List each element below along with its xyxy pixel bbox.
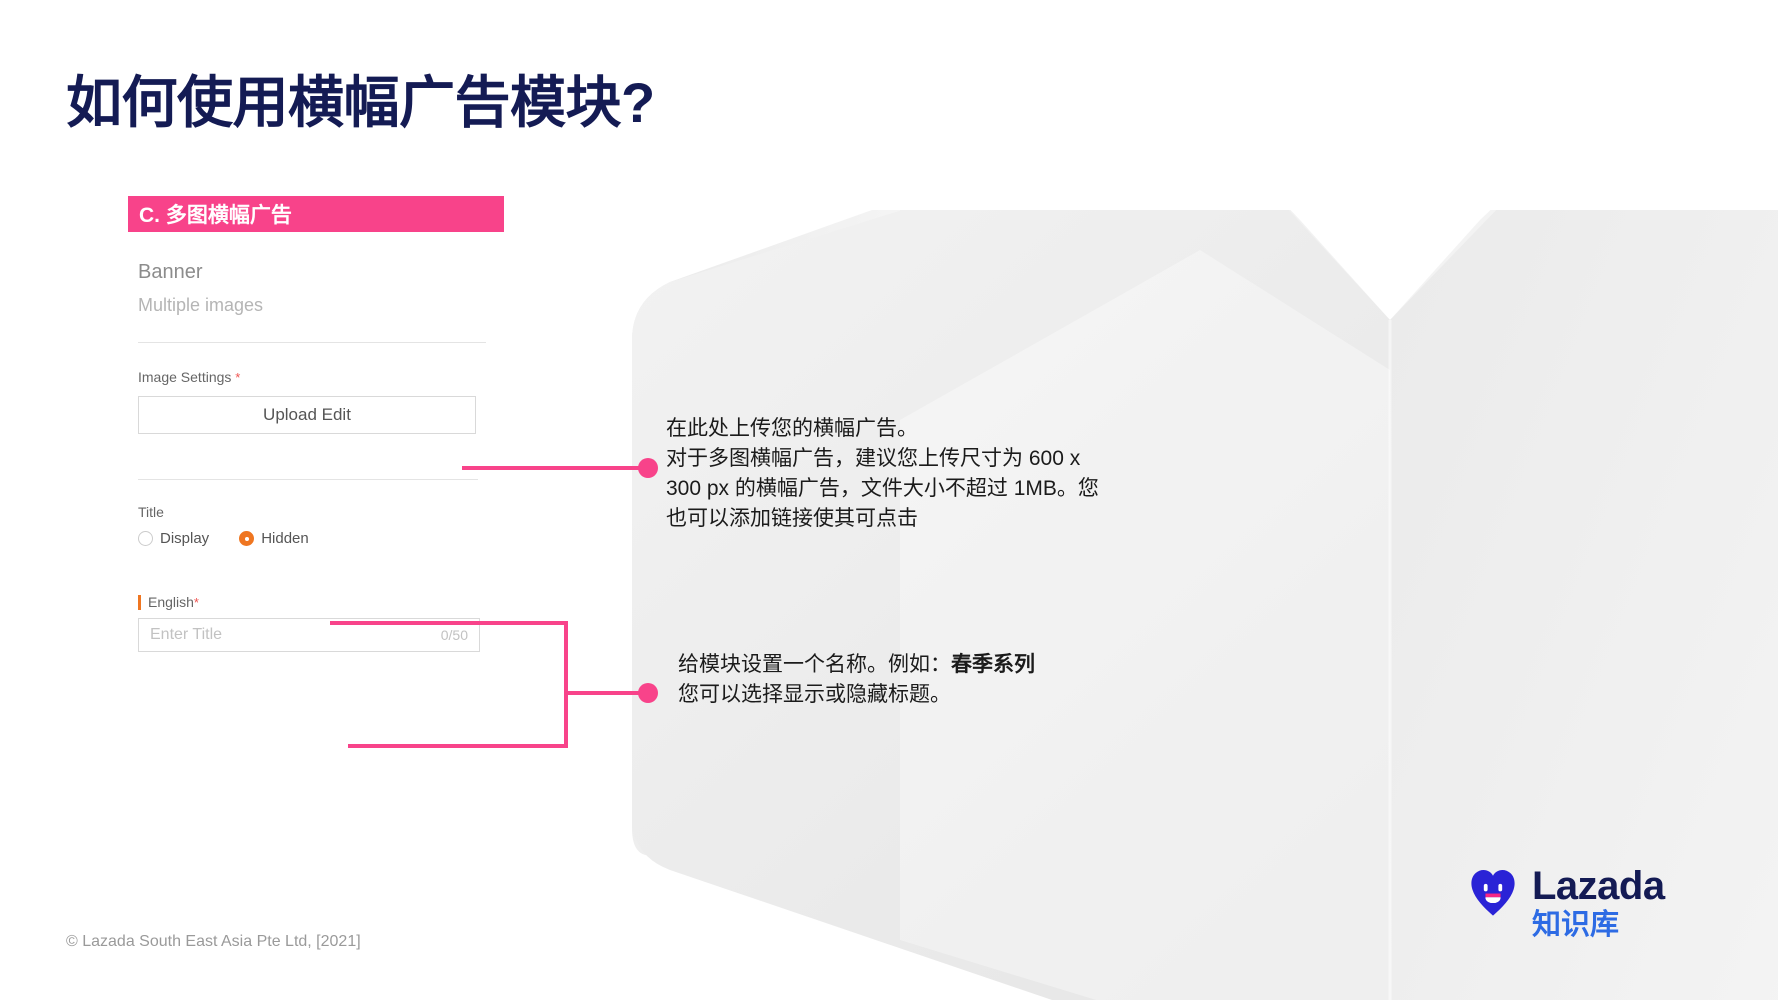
callout-title-instructions: 给模块设置一个名称。例如：春季系列 您可以选择显示或隐藏标题。 xyxy=(678,650,1148,710)
upload-edit-button[interactable]: Upload Edit xyxy=(138,396,476,434)
callout-2-bold-example: 春季系列 xyxy=(951,653,1035,676)
page-title: 如何使用横幅广告模块? xyxy=(66,58,655,139)
radio-option-display[interactable]: Display xyxy=(138,530,209,547)
radio-option-hidden[interactable]: Hidden xyxy=(239,530,309,547)
english-label-text: English xyxy=(148,594,194,610)
english-required-asterisk: * xyxy=(194,595,199,610)
title-visibility-radio-group: Display Hidden xyxy=(138,530,490,547)
title-group-label: Title xyxy=(138,504,490,520)
callout-2-suffix: 您可以选择显示或隐藏标题。 xyxy=(678,683,951,706)
title-input-counter: 0/50 xyxy=(441,627,468,643)
radio-checked-icon xyxy=(239,531,254,546)
english-field-label-row: English * xyxy=(138,594,490,610)
connector-dot-1 xyxy=(638,458,658,478)
radio-option-hidden-label: Hidden xyxy=(261,530,309,547)
callout-upload-instructions: 在此处上传您的横幅广告。 对于多图横幅广告，建议您上传尺寸为 600 x 300… xyxy=(666,414,1116,534)
lazada-logo: Lazada 知识库 xyxy=(1466,866,1665,942)
connector-line-2-bottom xyxy=(348,744,568,748)
connector-dot-2 xyxy=(638,683,658,703)
connector-line-2-branch xyxy=(564,691,648,695)
slide-canvas: 如何使用横幅广告模块? C. 多图横幅广告 Banner Multiple im… xyxy=(0,0,1778,1000)
form-banner-subtitle: Multiple images xyxy=(138,292,490,318)
form-divider-1 xyxy=(138,342,486,343)
lazada-logo-subtitle: 知识库 xyxy=(1532,908,1665,942)
form-banner-title: Banner xyxy=(138,258,490,286)
callout-2-prefix: 给模块设置一个名称。例如： xyxy=(678,653,951,676)
upload-edit-button-label: Upload Edit xyxy=(263,405,351,425)
section-header-band: C. 多图横幅广告 xyxy=(128,196,504,232)
radio-unchecked-icon xyxy=(138,531,153,546)
connector-line-2-top xyxy=(330,621,568,625)
form-divider-2 xyxy=(138,479,478,480)
connector-line-1 xyxy=(462,466,648,470)
image-settings-label-text: Image Settings xyxy=(138,369,231,385)
lazada-heart-smiley-icon xyxy=(1466,866,1520,920)
image-settings-required-asterisk: * xyxy=(235,370,240,385)
radio-option-display-label: Display xyxy=(160,530,209,547)
image-settings-label: Image Settings * xyxy=(138,368,490,387)
banner-module-form-panel: Banner Multiple images Image Settings * … xyxy=(138,258,490,652)
callout-1-text: 在此处上传您的横幅广告。 对于多图横幅广告，建议您上传尺寸为 600 x 300… xyxy=(666,414,1116,534)
lazada-logo-text: Lazada 知识库 xyxy=(1532,865,1665,942)
language-marker-icon xyxy=(138,595,141,610)
title-input-placeholder: Enter Title xyxy=(150,626,222,644)
section-header-label: C. 多图横幅广告 xyxy=(128,199,292,229)
connector-line-2-vertical xyxy=(564,621,568,748)
lazada-wordmark: Lazada xyxy=(1532,865,1665,907)
footer-copyright: © Lazada South East Asia Pte Ltd, [2021] xyxy=(66,933,361,951)
